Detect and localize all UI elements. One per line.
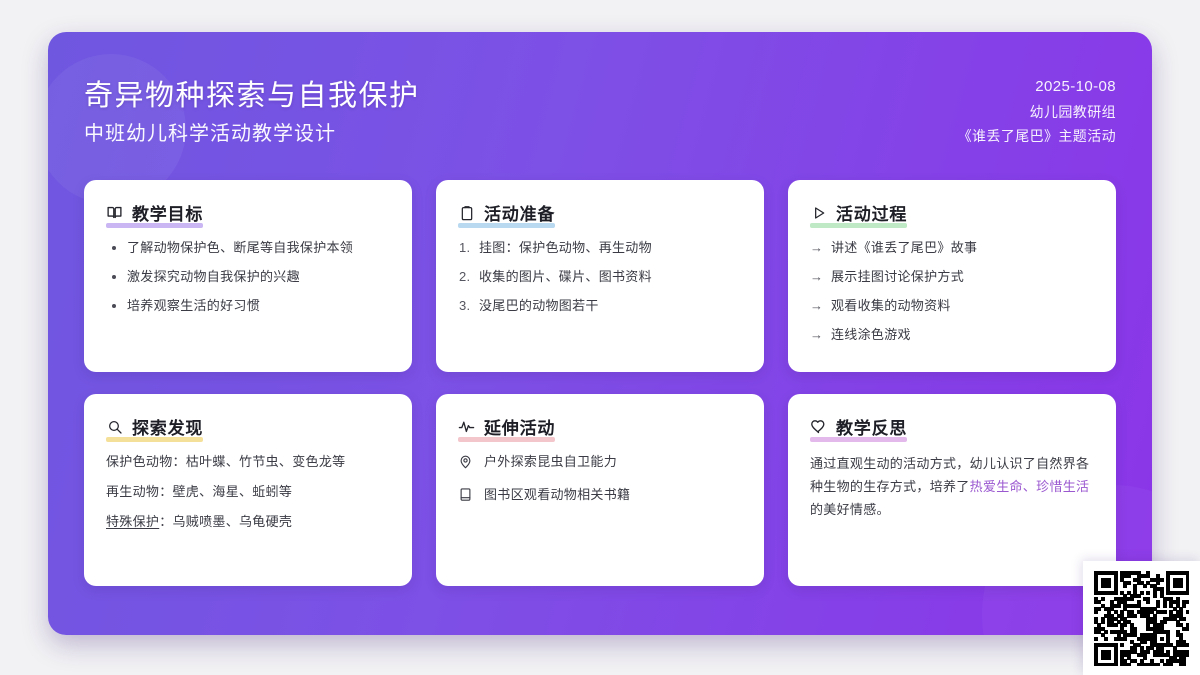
discovery-line-rest: ：壁虎、海星、蚯蚓等 <box>159 484 292 499</box>
heart-icon <box>810 418 827 435</box>
clipboard-icon <box>458 204 475 221</box>
discovery-line-lead: 再生动物 <box>106 484 159 499</box>
reflection-paragraph: 通过直观生动的活动方式，幼儿认识了自然界各种生物的生存方式，培养了热爱生命、珍惜… <box>810 452 1094 521</box>
list-item: 了解动物保护色、断尾等自我保护本领 <box>106 238 390 258</box>
card-teaching-reflection: 教学反思 通过直观生动的活动方式，幼儿认识了自然界各种生物的生存方式，培养了热爱… <box>788 394 1116 586</box>
search-icon <box>106 418 123 435</box>
page-subtitle: 中班幼儿科学活动教学设计 <box>84 119 420 149</box>
card-header-discovery: 探索发现 <box>106 414 203 439</box>
list-item: 观看收集的动物资料 <box>810 296 1094 316</box>
title-underline-discovery <box>106 437 203 442</box>
reflection-highlight: 热爱生命、珍惜生活 <box>970 479 1090 494</box>
list-item: 展示挂图讨论保护方式 <box>810 267 1094 287</box>
discovery-line: 再生动物：壁虎、海星、蚯蚓等 <box>106 482 390 502</box>
card-header-preparation: 活动准备 <box>458 200 555 225</box>
discovery-line-rest: ：枯叶蝶、竹节虫、变色龙等 <box>173 454 346 469</box>
header-theme: 《谁丢了尾巴》主题活动 <box>958 124 1116 148</box>
qr-code-panel <box>1083 561 1200 675</box>
list-item: 连线涂色游戏 <box>810 325 1094 345</box>
open-book-icon <box>106 204 123 221</box>
header-meta-block: 2025-10-08 幼儿园教研组 《谁丢了尾巴》主题活动 <box>958 32 1116 148</box>
list-item: 没尾巴的动物图若干 <box>458 296 742 316</box>
discovery-line-lead-underlined: 特殊保护 <box>106 514 159 529</box>
activity-pulse-icon <box>458 418 475 435</box>
card-header-goals: 教学目标 <box>106 200 203 225</box>
discovery-line: 保护色动物：枯叶蝶、竹节虫、变色龙等 <box>106 452 390 472</box>
process-list: 讲述《谁丢了尾巴》故事 展示挂图讨论保护方式 观看收集的动物资料 连线涂色游戏 <box>810 238 1094 346</box>
discovery-line-lead: 保护色动物 <box>106 454 173 469</box>
list-item: 收集的图片、碟片、图书资料 <box>458 267 742 287</box>
qr-code <box>1094 571 1189 666</box>
title-underline-preparation <box>458 223 555 228</box>
discovery-line: 特殊保护：乌贼喷墨、乌龟硬壳 <box>106 512 390 532</box>
list-item: 户外探索昆虫自卫能力 <box>458 452 742 472</box>
title-underline-reflection <box>810 437 907 442</box>
card-title-reflection: 教学反思 <box>836 414 907 439</box>
card-teaching-goals: 教学目标 了解动物保护色、断尾等自我保护本领 激发探究动物自我保护的兴趣 培养观… <box>84 180 412 372</box>
card-header-reflection: 教学反思 <box>810 414 907 439</box>
card-title-goals: 教学目标 <box>132 200 203 225</box>
poster-panel: 奇异物种探索与自我保护 中班幼儿科学活动教学设计 2025-10-08 幼儿园教… <box>48 32 1152 635</box>
header-date: 2025-10-08 <box>958 74 1116 100</box>
card-title-process: 活动过程 <box>836 200 907 225</box>
list-item: 激发探究动物自我保护的兴趣 <box>106 267 390 287</box>
card-grid: 教学目标 了解动物保护色、断尾等自我保护本领 激发探究动物自我保护的兴趣 培养观… <box>84 180 1116 586</box>
card-title-extension: 延伸活动 <box>484 414 555 439</box>
book-icon <box>458 487 473 502</box>
card-exploration-discovery: 探索发现 保护色动物：枯叶蝶、竹节虫、变色龙等 再生动物：壁虎、海星、蚯蚓等 特… <box>84 394 412 586</box>
list-item-label: 图书区观看动物相关书籍 <box>484 485 630 505</box>
reflection-text-part: 的美好情感。 <box>810 502 890 517</box>
title-underline-process <box>810 223 907 228</box>
preparation-list: 挂图：保护色动物、再生动物 收集的图片、碟片、图书资料 没尾巴的动物图若干 <box>458 238 742 316</box>
list-item: 图书区观看动物相关书籍 <box>458 485 742 505</box>
header-left-block: 奇异物种探索与自我保护 中班幼儿科学活动教学设计 <box>84 32 420 149</box>
list-item: 培养观察生活的好习惯 <box>106 296 390 316</box>
discovery-lines: 保护色动物：枯叶蝶、竹节虫、变色龙等 再生动物：壁虎、海星、蚯蚓等 特殊保护：乌… <box>106 452 390 532</box>
card-activity-preparation: 活动准备 挂图：保护色动物、再生动物 收集的图片、碟片、图书资料 没尾巴的动物图… <box>436 180 764 372</box>
page-title: 奇异物种探索与自我保护 <box>84 78 420 114</box>
card-header-extension: 延伸活动 <box>458 414 555 439</box>
list-item: 讲述《谁丢了尾巴》故事 <box>810 238 1094 258</box>
play-triangle-icon <box>810 204 827 221</box>
list-item: 挂图：保护色动物、再生动物 <box>458 238 742 258</box>
card-title-discovery: 探索发现 <box>132 414 203 439</box>
goals-list: 了解动物保护色、断尾等自我保护本领 激发探究动物自我保护的兴趣 培养观察生活的好… <box>106 238 390 316</box>
list-item-label: 户外探索昆虫自卫能力 <box>484 452 617 472</box>
card-header-process: 活动过程 <box>810 200 907 225</box>
card-extension-activity: 延伸活动 户外探索昆虫自卫能力 <box>436 394 764 586</box>
location-pin-icon <box>458 454 473 469</box>
card-activity-process: 活动过程 讲述《谁丢了尾巴》故事 展示挂图讨论保护方式 观看收集的动物资料 连线… <box>788 180 1116 372</box>
extension-list: 户外探索昆虫自卫能力 图书区观看动物相关书籍 <box>458 452 742 504</box>
header-organization: 幼儿园教研组 <box>958 100 1116 124</box>
poster-header: 奇异物种探索与自我保护 中班幼儿科学活动教学设计 2025-10-08 幼儿园教… <box>48 32 1152 180</box>
title-underline-extension <box>458 437 555 442</box>
discovery-line-rest: ：乌贼喷墨、乌龟硬壳 <box>159 514 292 529</box>
card-title-preparation: 活动准备 <box>484 200 555 225</box>
title-underline-goals <box>106 223 203 228</box>
